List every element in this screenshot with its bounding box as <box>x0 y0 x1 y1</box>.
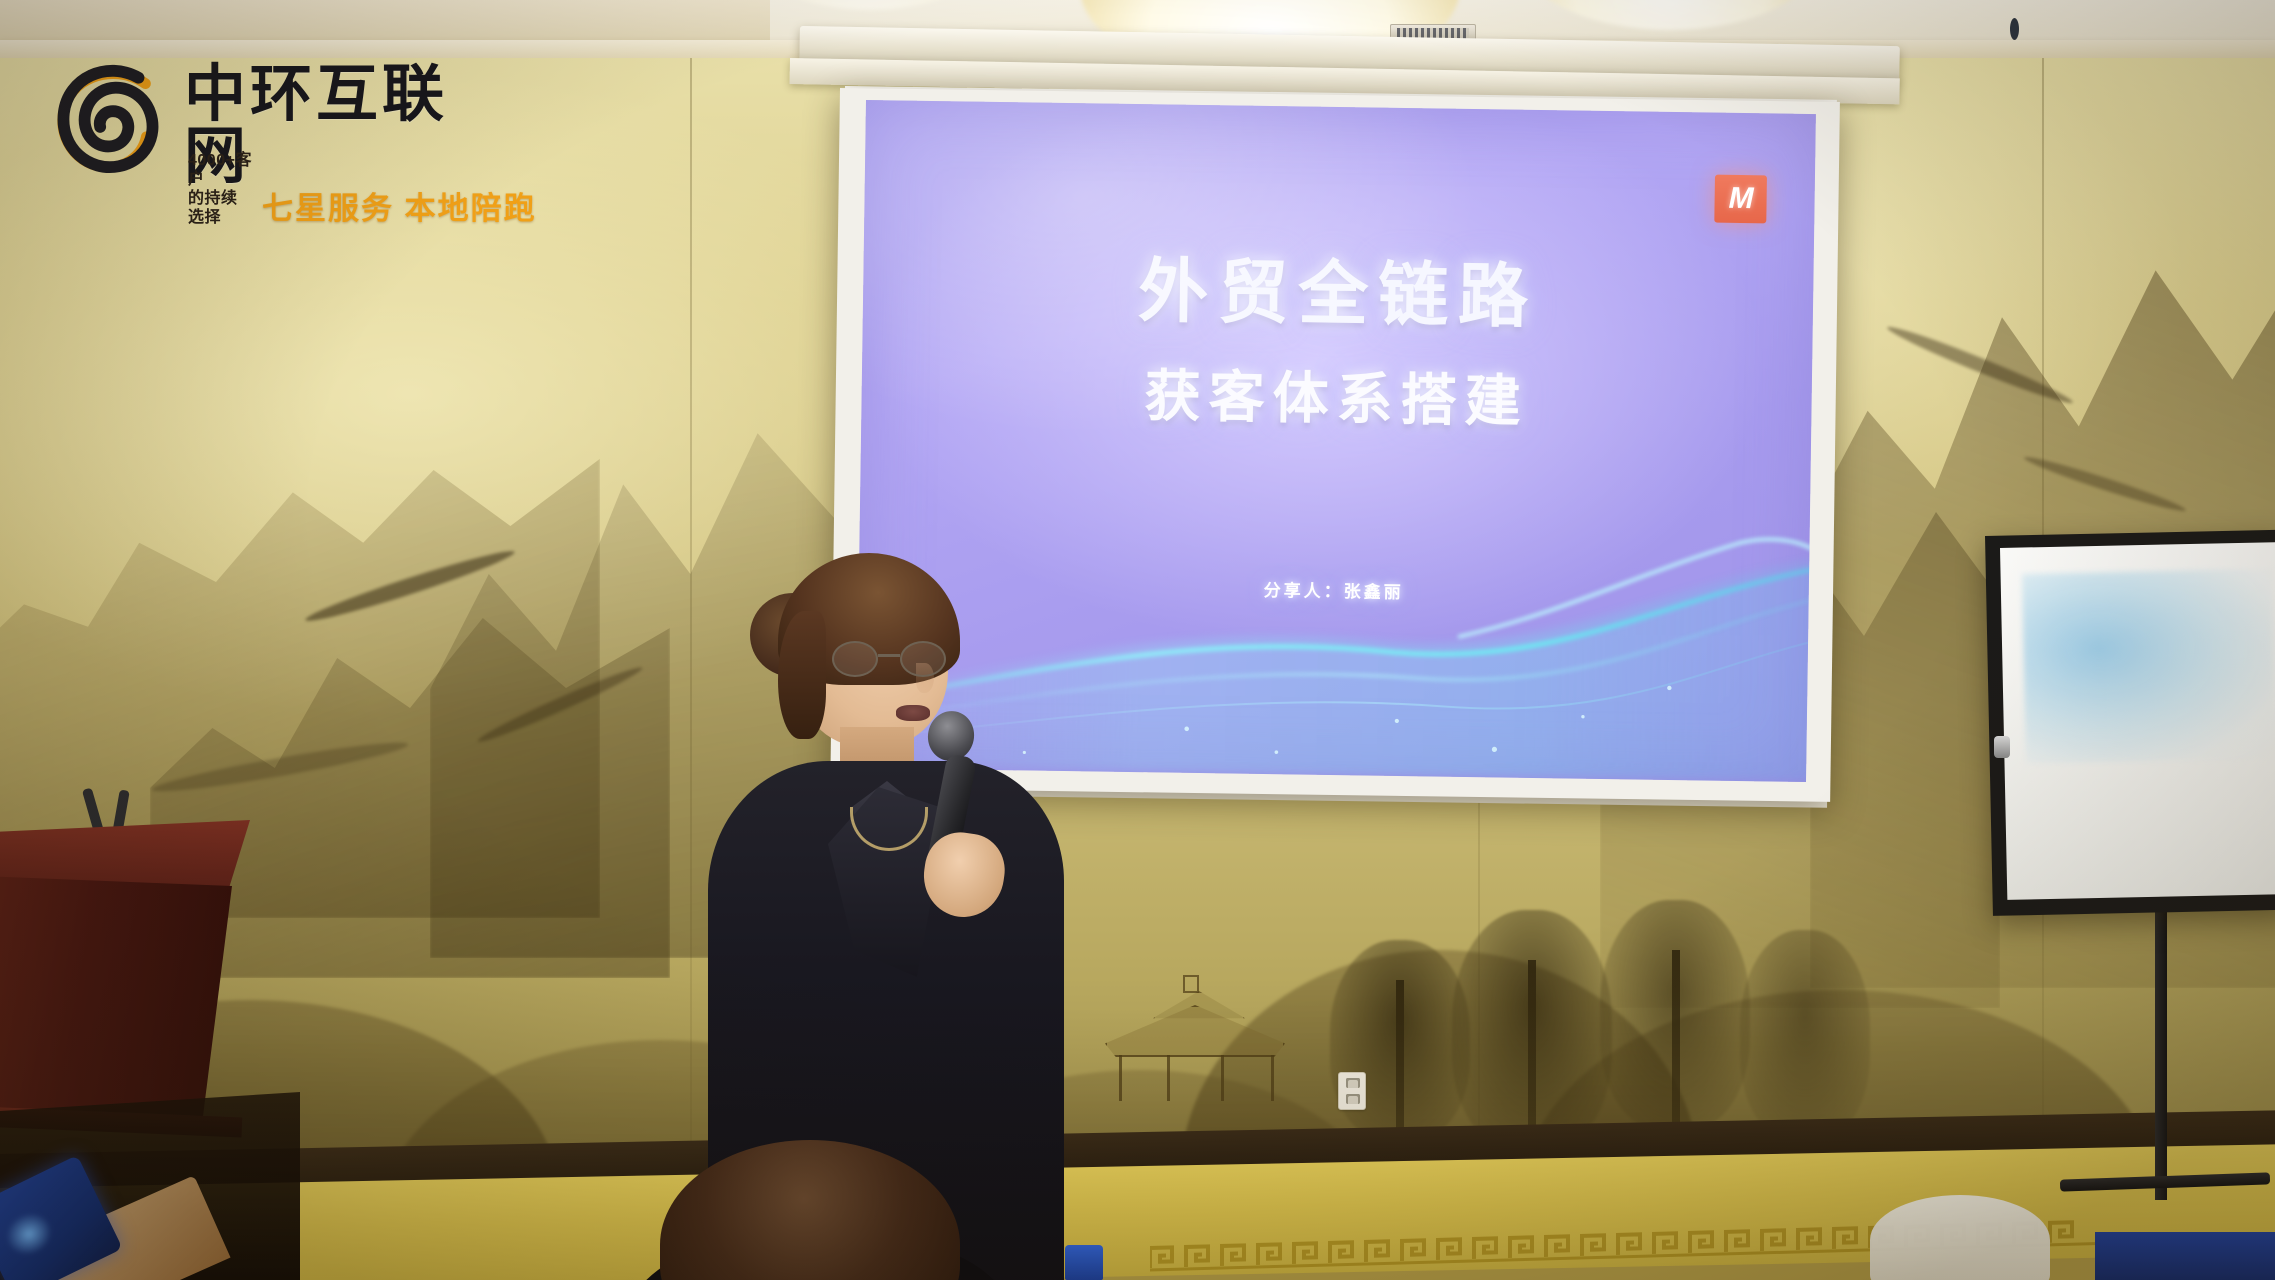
tagline-highlight: 七星服务 本地陪跑 <box>262 183 537 228</box>
table-edge <box>2095 1232 2275 1280</box>
tagline-line-1: 4000+客户 <box>188 152 252 190</box>
hair-side-strand <box>778 611 826 739</box>
painted-pavilion <box>1105 1005 1285 1101</box>
brand-watermark: 中环互联网 4000+客户 的持续选择 七星服务 本地陪跑 <box>52 56 482 186</box>
chair-backrest <box>1870 1195 2050 1280</box>
brand-tagline: 4000+客户 的持续选择 七星服务 本地陪跑 <box>188 152 537 228</box>
wall-power-outlet[interactable] <box>1338 1072 1366 1110</box>
ceiling-sensor-icon <box>2010 18 2019 40</box>
photo-scene: M 外贸全链路 获客体系搭建 分享人：张鑫丽 <box>0 0 2275 1280</box>
blue-cup <box>1065 1245 1103 1280</box>
flipchart-blue-marks <box>2022 569 2275 764</box>
slide-title-line-1: 外贸全链路 <box>863 246 1814 343</box>
painted-pine-tree <box>1740 930 1870 1140</box>
spiral-at-logo-icon <box>52 62 170 180</box>
easel-adjust-knob[interactable] <box>1994 736 2010 758</box>
mouth <box>896 705 930 721</box>
slide-title-block: 外贸全链路 获客体系搭建 <box>861 246 1814 442</box>
lectern-body <box>0 876 232 1126</box>
easel-stand <box>2155 900 2167 1200</box>
slide-corner-logo: M <box>1714 175 1767 224</box>
slide-title-line-2: 获客体系搭建 <box>861 347 1812 442</box>
slide-corner-logo-letter: M <box>1728 184 1752 214</box>
glasses-icon <box>832 641 946 677</box>
tagline-line-2: 的持续选择 <box>188 190 252 228</box>
